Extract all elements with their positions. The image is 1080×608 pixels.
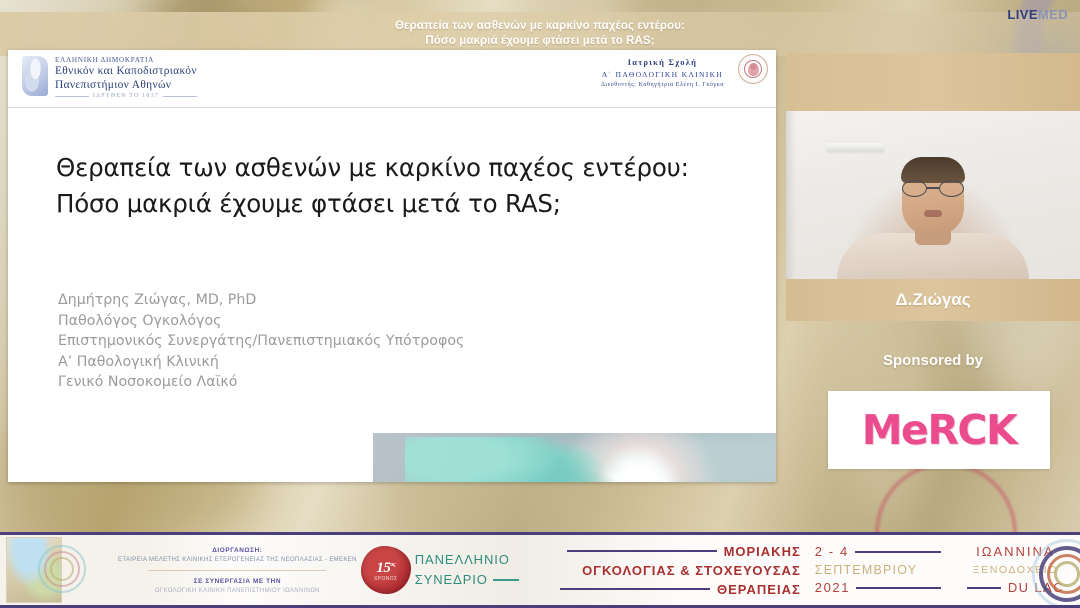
slide-title-line-1: Θεραπεία των ασθενών με καρκίνο παχέος ε… [56,150,746,186]
webinar-player: Θεραπεία των ασθενών με καρκίνο παχέος ε… [0,0,1080,608]
conference-banner: ΔΙΟΡΓΑΝΩΣΗ: ΕΤΑΙΡΕΙΑ ΜΕΛΕΤΗΣ ΚΛΙΝΙΚΗΣ ΕΤ… [0,532,1080,608]
date-dash-bottom [856,587,941,589]
slide-title-line-2: Πόσο μακριά έχουμε φτάσει μετά το RAS; [56,186,746,222]
livemed-logo: LIVEMED [1007,8,1068,22]
date-days: 2 - 4 [815,543,849,561]
presentation-slide[interactable]: ΕΛΛΗΝΙΚΗ ΔΗΜΟΚΡΑΤΙΑ Εθνικόν και Καποδιστ… [8,50,776,482]
slide-header: ΕΛΛΗΝΙΚΗ ΔΗΜΟΚΡΑΤΙΑ Εθνικόν και Καποδιστ… [8,50,776,108]
cooperation-label: ΣΕ ΣΥΝΕΡΓΑΣΙΑ ΜΕ ΤΗΝ [194,578,281,585]
banner-rings-icon [1032,539,1080,608]
theme-dash-top [567,550,717,552]
congress-line-1: ΠΑΝΕΛΛΗΝΙΟ [415,550,533,570]
colon-tissue-shape [405,437,615,482]
livemed-logo-live: LIVE [1007,7,1038,22]
banner-emblem [0,535,118,605]
video-top-accent-bar [786,53,1080,111]
date-dash-top [855,551,941,553]
slide-title: Θεραπεία των ασθενών με καρκίνο παχέος ε… [56,150,746,222]
university-line-4: ΙΔΡΥΘΕΝ ΤΟ 1837 [55,93,197,99]
speaker-glasses-icon [902,180,964,197]
sponsored-by-label: Sponsored by [786,352,1080,369]
banner-organizers: ΔΙΟΡΓΑΝΩΣΗ: ΕΤΑΙΡΕΙΑ ΜΕΛΕΤΗΣ ΚΛΙΝΙΚΗΣ ΕΤ… [118,535,357,605]
university-line-2: Εθνικόν και Καποδιστριακόν [55,64,197,78]
organizer-divider [148,570,326,571]
clinic-line-2: Α΄ ΠΑΘΟΛΟΓΙΚΗ ΚΛΙΝΙΚΗ [601,70,724,79]
theme-line-2: ΟΓΚΟΛΟΓΙΑΣ & ΣΤΟΧΕΥΟΥΣΑΣ [582,561,801,580]
banner-theme: ΜΟΡΙΑΚΗΣ ΟΓΚΟΛΟΓΙΑΣ & ΣΤΟΧΕΥΟΥΣΑΣ ΘΕΡΑΠΕ… [533,535,801,605]
clinic-line-3: Διευθυντής: Καθηγήτρια Ελένη Ι. Γκόγκα [601,81,724,88]
banner-venue: ΙΩΑΝΝΙΝΑ ΞΕΝΟΔΟΧΕΙΟ DU LAC [951,535,1080,605]
organizer-name: ΕΤΑΙΡΕΙΑ ΜΕΛΕΤΗΣ ΚΛΙΝΙΚΗΣ ΕΤΕΡΟΓΕΝΕΙΑΣ Τ… [118,557,357,563]
theme-line-1: ΜΟΡΙΑΚΗΣ [724,542,801,561]
congress-line-2: ΣΥΝΕΔΡΙΟ [415,570,488,590]
sponsor-logo-merck[interactable]: MeRCK [828,391,1050,469]
speaker-webcam-feed[interactable] [786,111,1080,279]
speaker-name-bar: Δ.Ζιώγας [786,279,1080,321]
banner-date: 2 - 4 ΣΕΠΤΕΜΒΡΙΟΥ 2021 [801,535,951,605]
speaker-video-panel[interactable]: Δ.Ζιώγας [786,53,1080,321]
university-line-3: Πανεπιστήμιον Αθηνών [55,78,197,92]
colon-illustration [373,433,776,482]
university-line-1: ΕΛΛΗΝΙΚΗ ΔΗΜΟΚΡΑΤΙΑ [55,56,197,64]
university-logo: ΕΛΛΗΝΙΚΗ ΔΗΜΟΚΡΑΤΙΑ Εθνικόν και Καποδιστ… [22,56,197,99]
organizer-label: ΔΙΟΡΓΑΝΩΣΗ: [212,547,262,554]
session-title-line-1: Θεραπεία των ασθενών με καρκίνο παχέος ε… [395,19,685,34]
clinic-header: Ιατρική Σχολή Α΄ ΠΑΘΟΛΟΓΙΚΗ ΚΛΙΝΙΚΗ Διευ… [601,58,724,88]
anniversary-seal: 15ος ΧΡΟΝΟΣ [357,535,415,605]
banner-emblem-rings-icon [34,541,92,599]
seal-word: ΧΡΟΝΟΣ [374,576,398,582]
theme-dash-bottom [560,588,710,590]
author-line-5: Γενικό Νοσοκομείο Λαϊκό [58,372,464,393]
date-year: 2021 [815,579,850,597]
merck-wordmark: MeRCK [862,410,1017,451]
clinic-line-1: Ιατρική Σχολή [601,58,724,67]
author-line-4: Α’ Παθολογική Κλινική [58,352,464,373]
author-line-1: Δημήτρης Ζιώγας, MD, PhD [58,290,464,311]
venue-dash [967,587,1001,589]
theme-line-3: ΘΕΡΑΠΕΙΑΣ [717,580,801,599]
speaker-figure [833,139,1033,279]
wax-seal-icon: 15ος ΧΡΟΝΟΣ [361,546,411,594]
speaker-mouth [924,210,942,217]
video-wall-edge [786,111,796,279]
seal-number: 15 [376,560,390,576]
speaker-name: Δ.Ζιώγας [895,290,970,310]
congress-dash [493,579,519,581]
session-title-line-2: Πόσο μακριά έχουμε φτάσει μετά το RAS; [425,34,654,49]
author-line-2: Παθολόγος Ογκολόγος [58,311,464,332]
athena-seal-icon [22,56,48,96]
seal-ordinal: ος [390,562,395,568]
date-month: ΣΕΠΤΕΜΒΡΙΟΥ [815,561,917,579]
cooperation-name: ΟΓΚΟΛΟΓΙΚΗ ΚΛΙΝΙΚΗ ΠΑΝΕΠΙΣΤΗΜΙΟΥ ΙΩΑΝΝΙΝ… [155,588,320,594]
author-line-3: Επιστημονικός Συνεργάτης/Πανεπιστημιακός… [58,331,464,352]
livemed-logo-med: MED [1038,7,1068,22]
clinic-emblem-icon [738,54,768,84]
slide-author-block: Δημήτρης Ζιώγας, MD, PhD Παθολόγος Ογκολ… [58,290,464,393]
banner-congress: ΠΑΝΕΛΛΗΝΙΟ ΣΥΝΕΔΡΙΟ [415,535,533,605]
